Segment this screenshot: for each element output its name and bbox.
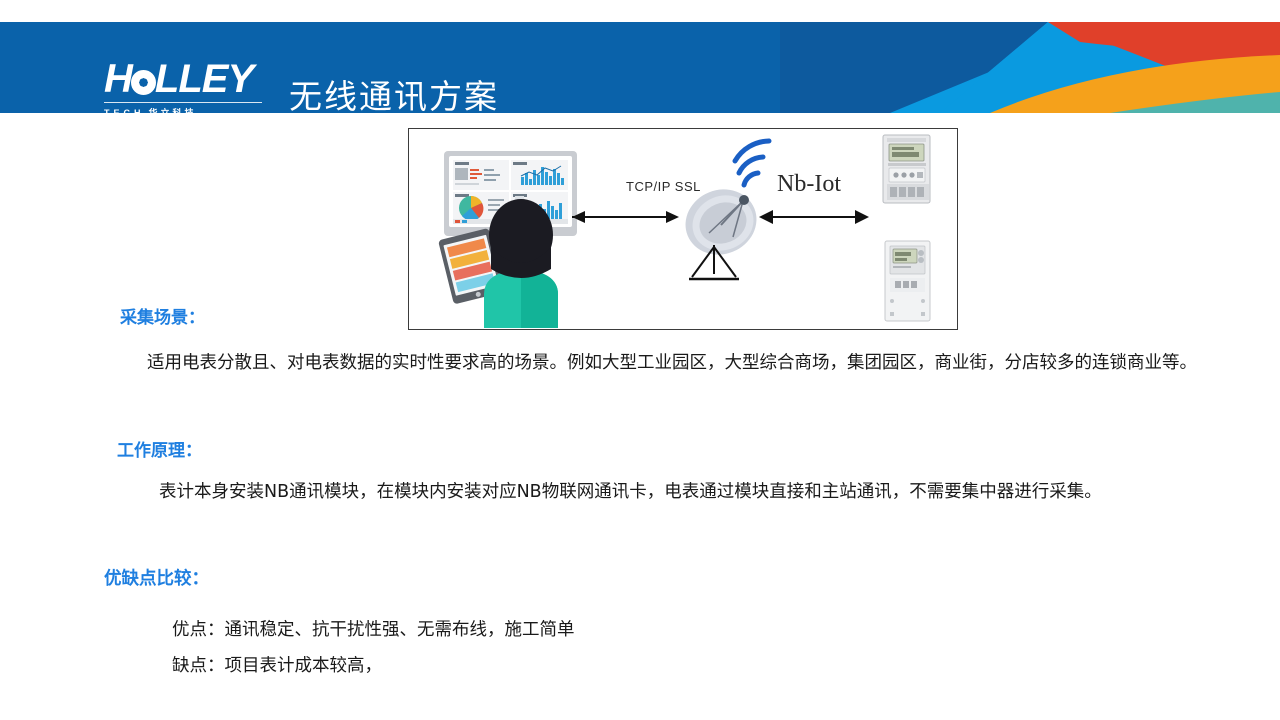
logo-subtitle: TECH 华立科技 [104,102,262,113]
text-cons: 缺点：项目表计成本较高， [172,652,382,680]
paragraph-working-principle: 表计本身安装NB通讯模块，在模块内安装对应NB物联网通讯卡，电表通过模块直接和主… [124,478,1206,506]
company-logo: HLLEY TECH 华立科技 [104,59,264,113]
page-title: 无线通讯方案 [289,70,499,113]
logo-sub-cjk: 华立科技 [149,106,197,113]
logo-word-part1: H [104,57,132,101]
header-decorative-swoosh [780,22,1280,113]
text-pros: 优点：通讯稳定、抗干扰性强、无需布线，施工简单 [172,616,575,644]
header-band: HLLEY TECH 华立科技 无线通讯方案 [0,22,1280,113]
workstation-illustration [438,151,577,328]
wifi-icon [735,141,769,185]
svg-text:TCP/IP SSL: TCP/IP SSL [626,179,701,194]
architecture-diagram: TCP/IP SSL [408,128,958,330]
paragraph-collection-scene: 适用电表分散且、对电表数据的实时性要求高的场景。例如大型工业园区，大型综合商场，… [112,349,1202,377]
satellite-dish-illustration [676,141,769,279]
slide-root: HLLEY TECH 华立科技 无线通讯方案 [0,0,1280,720]
svg-text:Nb-Iot: Nb-Iot [777,171,841,197]
link-tcpip: TCP/IP SSL [572,179,701,223]
logo-wordmark: HLLEY [104,59,264,99]
link-nbiot: Nb-Iot [759,171,869,224]
heading-pros-cons: 优缺点比较： [104,565,209,590]
logo-sub-latin: TECH [104,108,145,114]
heading-collection-scene: 采集场景： [120,303,205,328]
electricity-meter-bottom [885,241,930,321]
logo-word-part2: LLEY [155,57,253,101]
electricity-meter-top [883,135,930,203]
heading-working-principle: 工作原理： [117,436,202,461]
logo-o-glyph [131,70,156,95]
